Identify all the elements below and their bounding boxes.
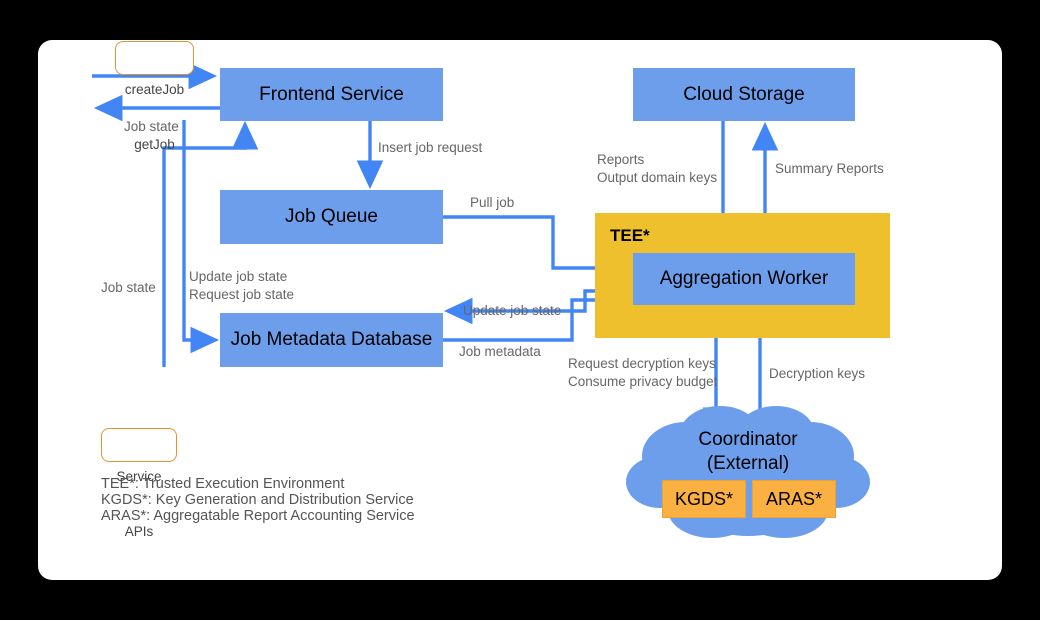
node-frontend-service-label: Frontend Service xyxy=(259,84,404,106)
node-job-metadata-database-label: Job Metadata Database xyxy=(231,329,433,351)
legend-service-apis-badge: Service APIs xyxy=(101,428,177,462)
node-aggregation-worker-label: Aggregation Worker xyxy=(660,268,829,290)
edge-label-job-state-out: Job state xyxy=(124,118,179,136)
api-badge-createjob-getjob[interactable]: createJob getJob xyxy=(115,41,194,75)
edge-label-update-job-state: Update job state xyxy=(463,302,561,320)
edge-label-summary-reports: Summary Reports xyxy=(775,160,884,178)
edge-label-job-metadata: Job metadata xyxy=(459,343,541,361)
edge-label-decryption-keys: Decryption keys xyxy=(769,365,865,383)
api-badge-line1: createJob xyxy=(122,81,187,99)
coordinator-title: Coordinator (External) xyxy=(648,428,848,476)
edge-label-pull-job: Pull job xyxy=(470,194,514,212)
coordinator-line2: (External) xyxy=(648,452,848,476)
api-badge-line2: getJob xyxy=(122,136,187,154)
legend-item-tee: TEE*: Trusted Execution Environment xyxy=(101,476,344,492)
legend-badge-line2: APIs xyxy=(108,523,170,541)
legend-item-aras: ARAS*: Aggregatable Report Accounting Se… xyxy=(101,508,415,524)
edge-label-update-request-job-state: Update job state Request job state xyxy=(189,268,294,304)
node-aras[interactable]: ARAS* xyxy=(752,480,836,518)
node-frontend-service[interactable]: Frontend Service xyxy=(220,68,443,121)
edge-label-reports-output-domain-keys: Reports Output domain keys xyxy=(597,151,717,187)
edge-frontend-to-jobdb xyxy=(184,120,215,340)
node-job-queue-label: Job Queue xyxy=(285,206,378,228)
diagram-canvas: Frontend Service Job Queue Job Metadata … xyxy=(0,0,1040,620)
node-cloud-storage-label: Cloud Storage xyxy=(683,84,804,106)
tee-label: TEE* xyxy=(610,226,650,246)
node-job-queue[interactable]: Job Queue xyxy=(220,190,443,244)
node-aggregation-worker[interactable]: Aggregation Worker xyxy=(633,253,855,305)
node-cloud-storage[interactable]: Cloud Storage xyxy=(633,68,855,121)
coordinator-line1: Coordinator xyxy=(648,428,848,452)
node-aras-label: ARAS* xyxy=(766,489,822,510)
legend-item-kgds: KGDS*: Key Generation and Distribution S… xyxy=(101,492,414,508)
node-kgds[interactable]: KGDS* xyxy=(662,480,746,518)
edge-label-request-decryption-keys: Request decryption keys Consume privacy … xyxy=(568,355,717,391)
edge-label-job-state-left: Job state xyxy=(101,279,156,297)
node-job-metadata-database[interactable]: Job Metadata Database xyxy=(220,313,443,367)
edge-label-insert-job-request: Insert job request xyxy=(378,139,482,157)
node-kgds-label: KGDS* xyxy=(675,489,733,510)
